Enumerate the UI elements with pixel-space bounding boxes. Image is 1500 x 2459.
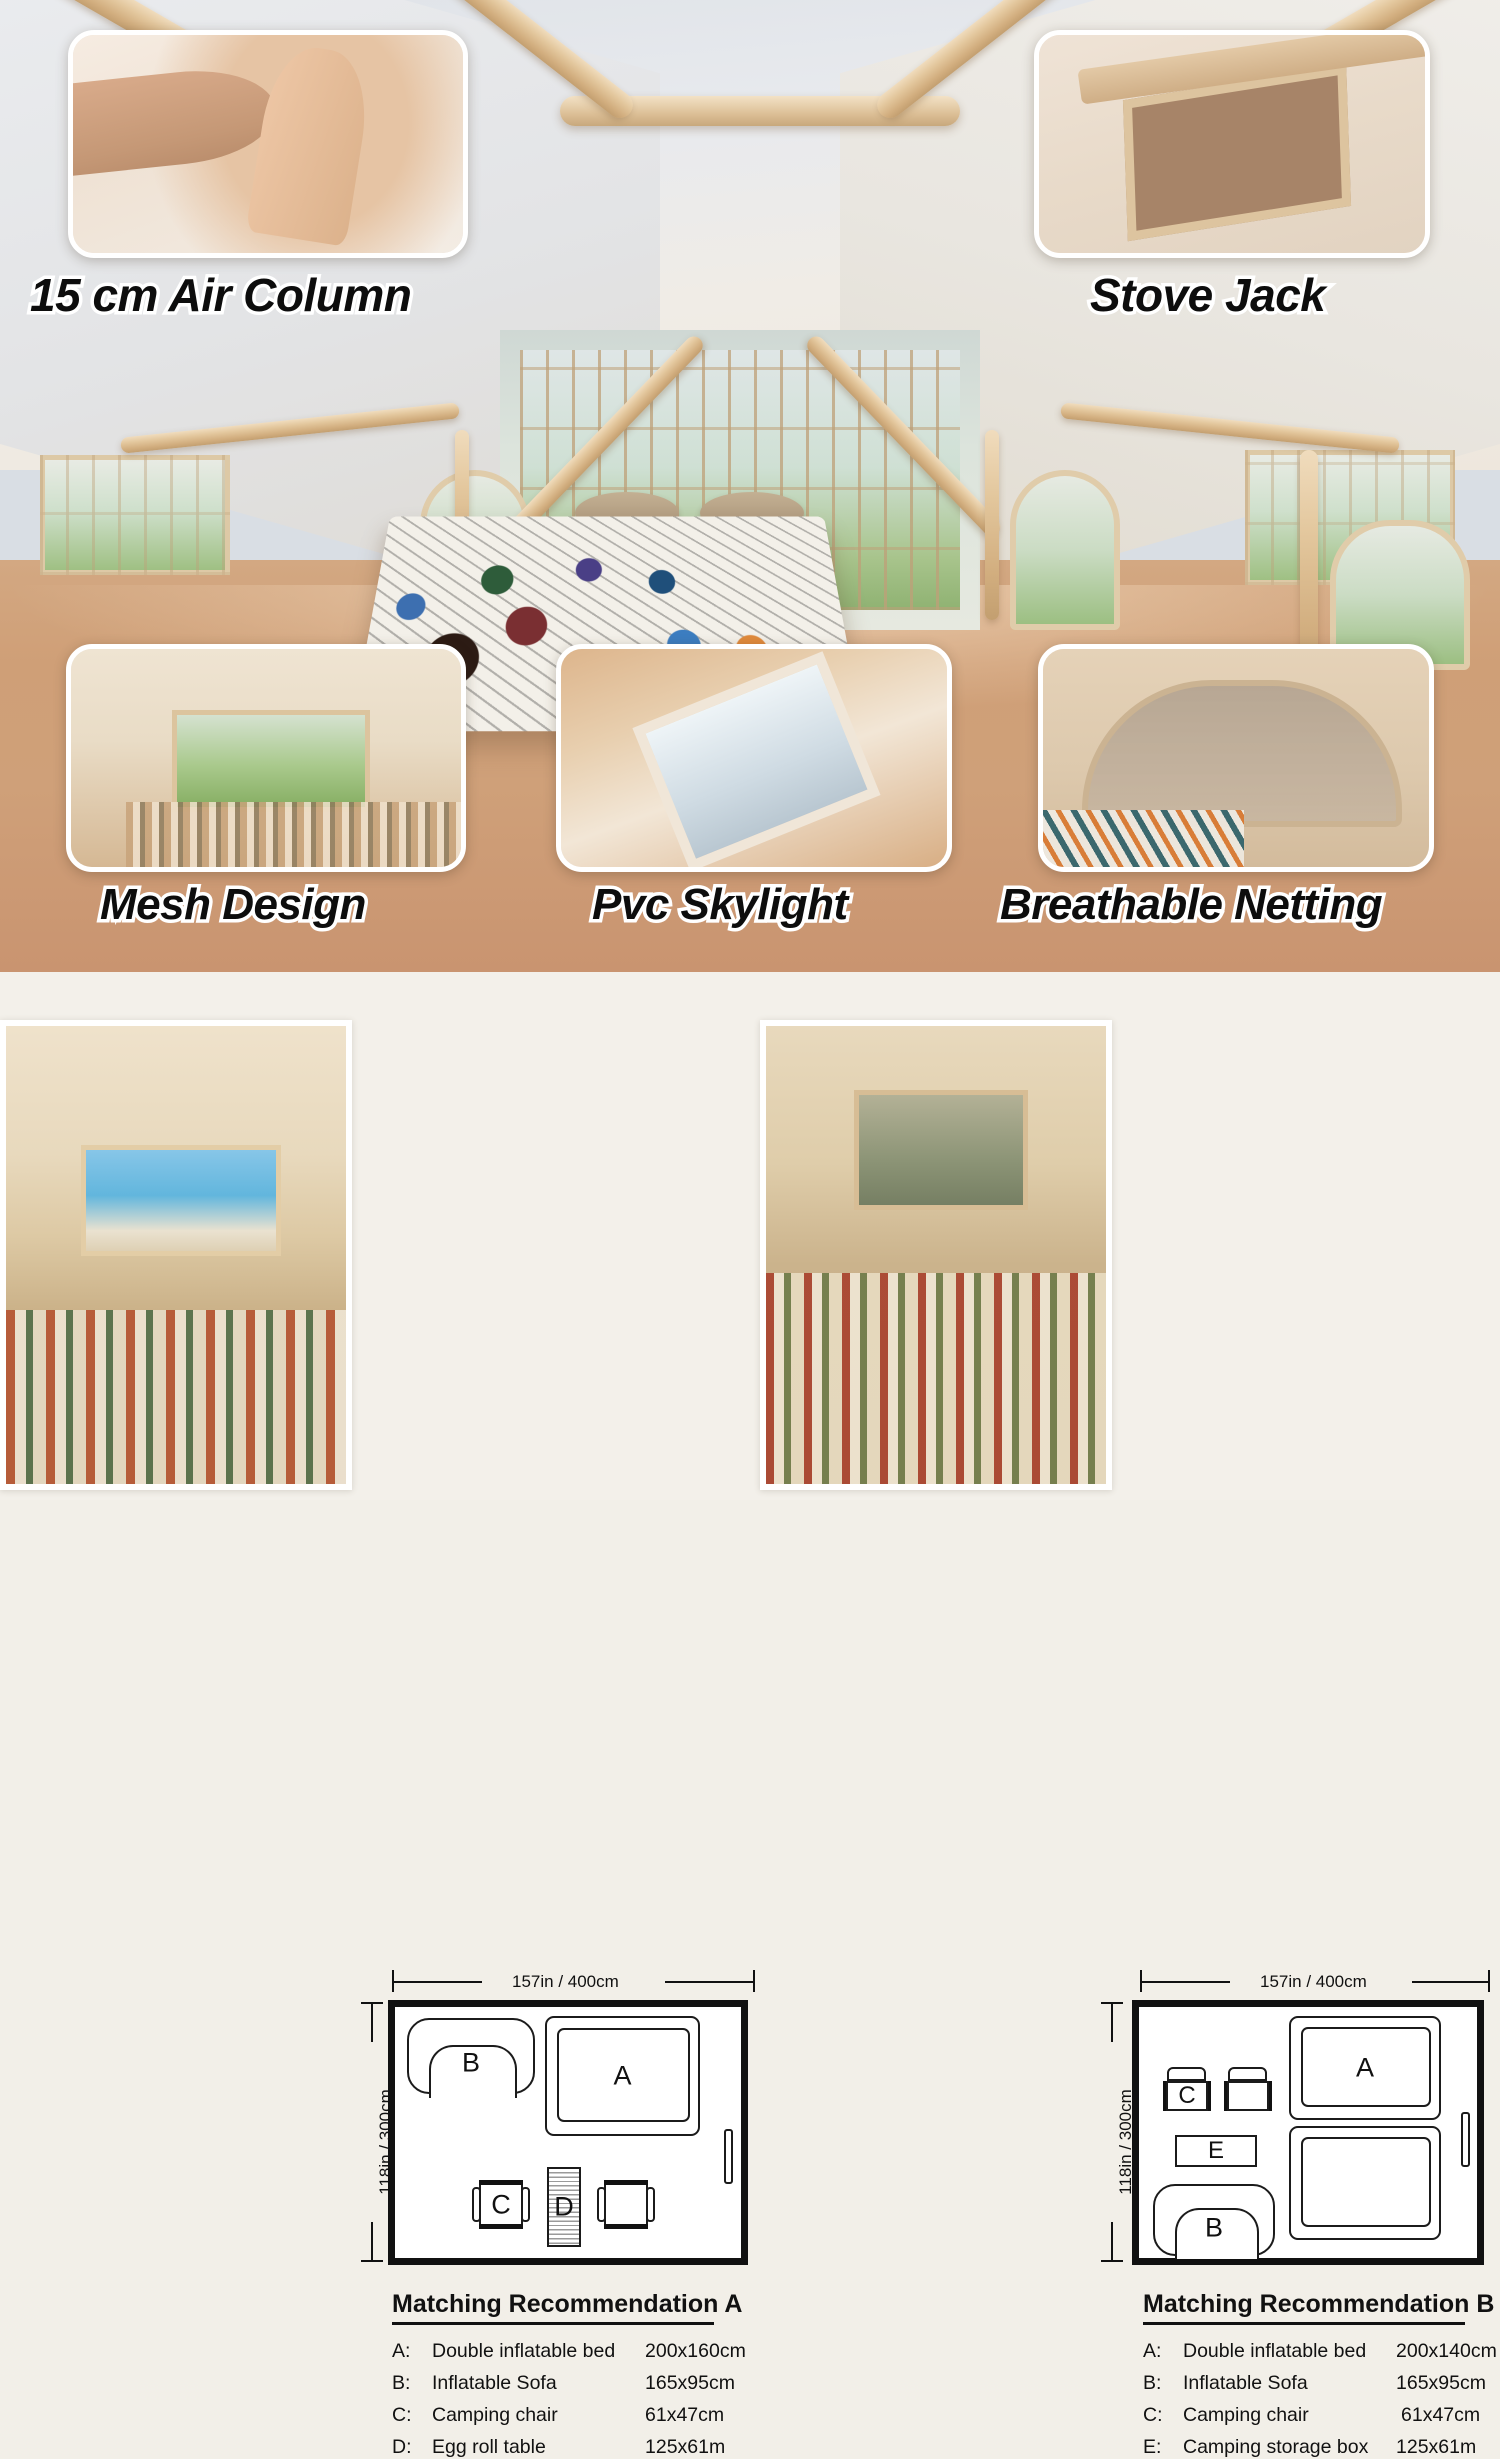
plan-a-room-outline: B A C D xyxy=(388,2000,748,2265)
plan-a-chair-right-seat xyxy=(604,2183,648,2226)
plan-b-width-cap-left xyxy=(1140,1970,1142,1992)
plan-a-width-cap-left xyxy=(392,1970,394,1992)
plan-a-title: Matching Recommendation A xyxy=(392,2290,743,2319)
inset-photo-pvc-skylight xyxy=(556,644,952,872)
plan-a-depth-cap-bottom xyxy=(361,2260,383,2262)
plan-a-chair-c-front-bar xyxy=(479,2224,523,2229)
plan-b-sofa-b: B xyxy=(1153,2184,1275,2256)
air-column-closeup-art xyxy=(73,35,463,253)
plan-b-legend-key-1: B: xyxy=(1143,2372,1161,2395)
plan-b-room-outline: A C E B xyxy=(1132,2000,1484,2265)
plan-a-chair-right-front-bar xyxy=(604,2224,648,2229)
plan-b-door-handle xyxy=(1461,2112,1470,2167)
feature-label-breathable-netting: Breathable Netting xyxy=(1000,880,1382,930)
plan-a-legend-name-1: Inflatable Sofa xyxy=(432,2372,557,2395)
hero-product-photo: 15 cm Air Column Stove Jack Mesh Design … xyxy=(0,0,1500,972)
plan-a-legend-key-1: B: xyxy=(392,2372,410,2395)
plan-a-legend-size-2: 61x47cm xyxy=(645,2404,724,2427)
plan-b-depth-cap-bottom xyxy=(1101,2260,1123,2262)
breathable-netting-closeup-art xyxy=(1043,649,1429,867)
mesh-design-closeup-art xyxy=(71,649,461,867)
plan-b-legend-key-0: A: xyxy=(1143,2340,1161,2363)
forest-interior-art xyxy=(766,1026,1106,1484)
plan-a-chair-c-backrest xyxy=(479,2180,523,2185)
feature-label-air-column: 15 cm Air Column xyxy=(30,268,411,322)
feature-label-stove-jack: Stove Jack xyxy=(1090,268,1325,322)
plan-b-marker-e: E xyxy=(1177,2137,1255,2165)
feature-label-mesh-design: Mesh Design xyxy=(100,880,366,930)
plan-b-legend-name-1: Inflatable Sofa xyxy=(1183,2372,1308,2395)
recommendations-panel: 157in / 400cm 118in / 300cm B A C xyxy=(0,972,1500,1500)
plan-a-marker-c: C xyxy=(479,2189,523,2220)
plan-b-bed-second-mattress xyxy=(1301,2137,1431,2227)
plan-a-legend-name-3: Egg roll table xyxy=(432,2436,546,2459)
plan-b-width-label: 157in / 400cm xyxy=(1260,1972,1367,1992)
plan-b-legend-key-2: C: xyxy=(1143,2404,1163,2427)
feature-label-pvc-skylight: Pvc Skylight xyxy=(592,880,848,930)
plan-a-chair-right xyxy=(604,2183,648,2226)
plan-b-storage-box-e: E xyxy=(1175,2135,1257,2167)
plan-a-depth-tick-top xyxy=(371,2002,373,2042)
plan-b-chair-second-seat xyxy=(1227,2081,1269,2111)
pvc-skylight-closeup-art xyxy=(561,649,947,867)
inset-photo-stove-jack xyxy=(1034,30,1430,258)
plan-a-legend-key-3: D: xyxy=(392,2436,412,2459)
plan-a-marker-a: A xyxy=(547,2061,698,2092)
stove-jack-closeup-art xyxy=(1039,35,1425,253)
plan-a-legend-name-0: Double inflatable bed xyxy=(432,2340,615,2363)
plan-b-marker-c: C xyxy=(1166,2082,1208,2110)
plan-a-depth-cap-top xyxy=(361,2002,383,2004)
plan-b-bed-a: A xyxy=(1289,2016,1441,2120)
plan-b-chair-c-backrest xyxy=(1167,2067,1206,2081)
plan-b-legend-size-2: 61x47cm xyxy=(1401,2404,1480,2427)
plan-a-sofa-b: B xyxy=(407,2018,535,2094)
plan-b-legend-name-2: Camping chair xyxy=(1183,2404,1309,2427)
inset-photo-breathable-netting xyxy=(1038,644,1434,872)
plan-a-legend-size-0: 200x160cm xyxy=(645,2340,746,2363)
plan-a-chair-right-backrest xyxy=(604,2180,648,2185)
beach-interior-art xyxy=(6,1026,346,1484)
plan-b-legend-name-3: Camping storage box xyxy=(1183,2436,1368,2459)
plan-b-width-tick-left xyxy=(1140,1981,1230,1983)
plan-a-door-handle xyxy=(724,2129,733,2184)
plan-b-legend-size-0: 200x140cm xyxy=(1396,2340,1497,2363)
plan-a-width-label: 157in / 400cm xyxy=(512,1972,619,1992)
plan-b-bed-second xyxy=(1289,2126,1441,2240)
plan-a-table-d: D xyxy=(547,2167,581,2247)
post-right xyxy=(985,430,999,620)
plan-a-width-cap-right xyxy=(753,1970,755,1992)
plan-b-legend-name-0: Double inflatable bed xyxy=(1183,2340,1366,2363)
plan-a-width-tick-left xyxy=(392,1981,482,1983)
plan-a-legend-size-1: 165x95cm xyxy=(645,2372,735,2395)
plan-b-depth-tick-top xyxy=(1111,2002,1113,2042)
plan-a-chair-c: C xyxy=(479,2183,523,2226)
photo-interior-beach-view xyxy=(0,1020,352,1490)
right-arch-doorway xyxy=(1010,470,1120,630)
plan-b-chair-second xyxy=(1227,2081,1269,2111)
plan-b-depth-cap-top xyxy=(1101,2002,1123,2004)
plan-a-legend-key-0: A: xyxy=(392,2340,410,2363)
plan-b-legend-size-3: 125x61m xyxy=(1396,2436,1476,2459)
plan-b-chair-second-backrest xyxy=(1228,2067,1267,2081)
plan-a-legend-size-3: 125x61m xyxy=(645,2436,725,2459)
plan-a-depth-tick-bottom xyxy=(371,2222,373,2262)
plan-b-marker-b: B xyxy=(1155,2213,1273,2244)
plan-b-legend-key-3: E: xyxy=(1143,2436,1161,2459)
plan-a-bed-a: A xyxy=(545,2016,700,2136)
inset-photo-air-column xyxy=(68,30,468,258)
plan-b-chair-c: C xyxy=(1166,2081,1208,2111)
plan-b-title: Matching Recommendation B xyxy=(1143,2290,1494,2319)
plan-b-marker-a: A xyxy=(1291,2053,1439,2084)
plan-a-width-tick-right xyxy=(665,1981,755,1983)
plan-b-depth-tick-bottom xyxy=(1111,2222,1113,2262)
plan-b-title-underline xyxy=(1143,2322,1465,2325)
inset-photo-mesh-design xyxy=(66,644,466,872)
plan-a-legend-name-2: Camping chair xyxy=(432,2404,558,2427)
plan-a-title-underline xyxy=(392,2322,714,2325)
plan-b-width-tick-right xyxy=(1412,1981,1490,1983)
plan-a-marker-d: D xyxy=(549,2192,579,2223)
plan-a-legend-key-2: C: xyxy=(392,2404,412,2427)
photo-interior-forest-view xyxy=(760,1020,1112,1490)
plan-b-width-cap-right xyxy=(1488,1970,1490,1992)
plan-a-marker-b: B xyxy=(409,2048,533,2079)
plan-b-legend-size-1: 165x95cm xyxy=(1396,2372,1486,2395)
left-window-grid xyxy=(40,455,230,575)
